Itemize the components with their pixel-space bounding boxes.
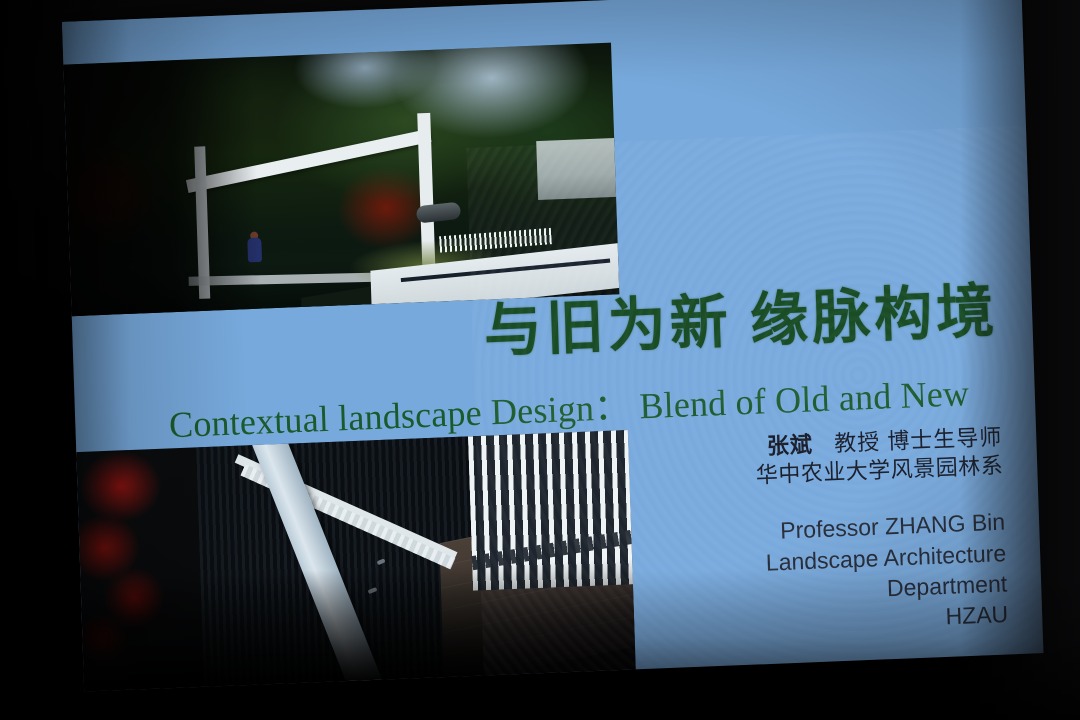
distant-pavilion [536, 138, 616, 200]
author-block: 张斌 教授 博士生导师 华中农业大学风景园林系 Professor ZHANG … [572, 423, 1009, 647]
slide-photo-top [63, 43, 619, 317]
slide-photo-bottom [76, 430, 635, 692]
projection-screen-area: 与旧为新 缘脉构境 Contextual landscape Design： B… [0, 0, 1080, 720]
right-wall-shadow [960, 0, 1080, 720]
author-english-block: Professor ZHANG Bin Landscape Architectu… [575, 507, 1009, 647]
presentation-slide[interactable]: 与旧为新 缘脉构境 Contextual landscape Design： B… [62, 0, 1043, 692]
photo-bottom-shadow [81, 558, 636, 692]
photo-top-shadow [63, 57, 261, 316]
dark-room-background: 与旧为新 缘脉构境 Contextual landscape Design： B… [0, 0, 1080, 720]
cylinder-sculpture [416, 202, 462, 224]
author-name-chinese: 张斌 [767, 432, 814, 459]
